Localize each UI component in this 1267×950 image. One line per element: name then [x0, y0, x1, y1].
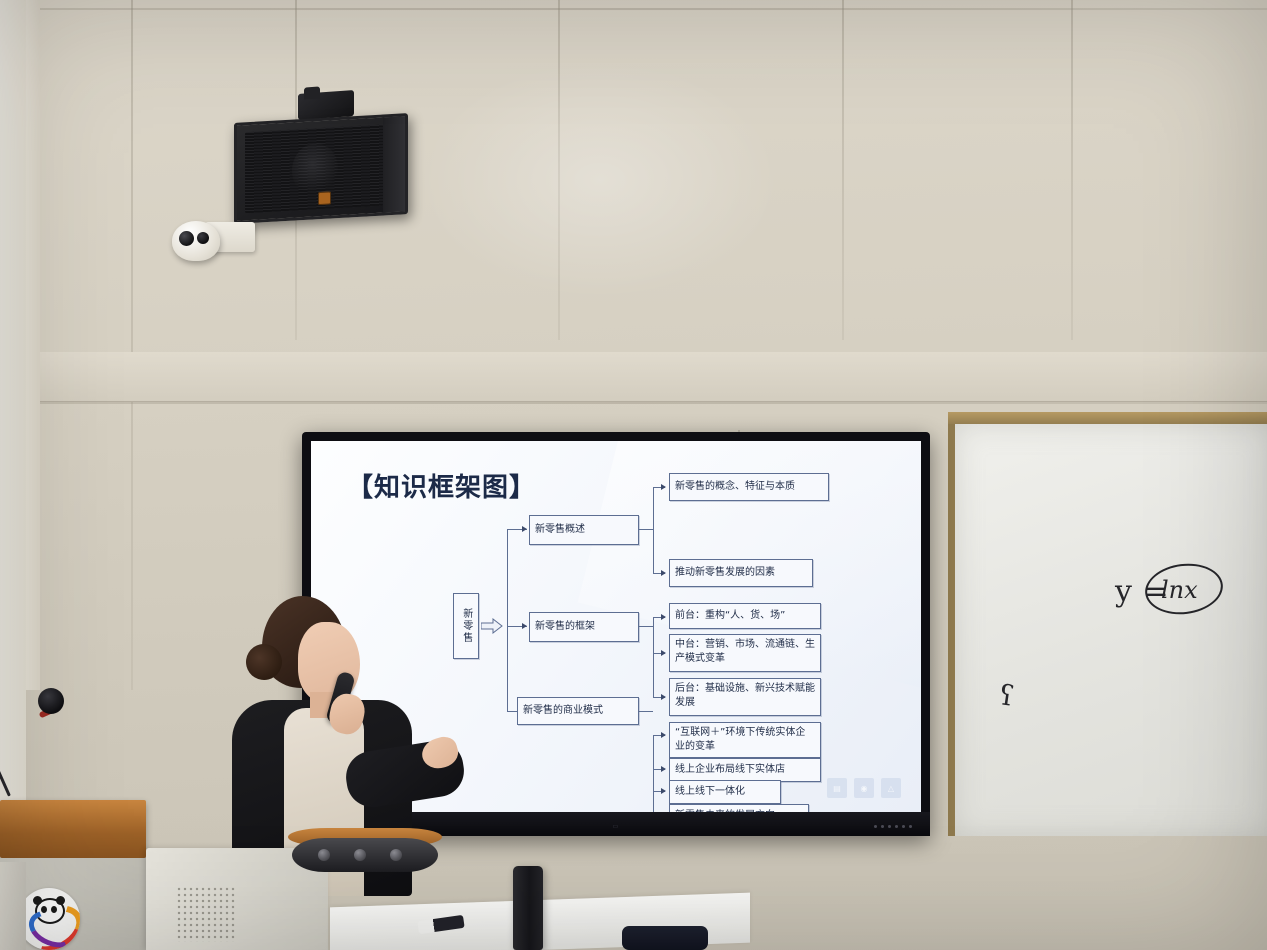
b2-stem [639, 626, 653, 627]
speaker-brand-badge [318, 191, 331, 205]
dark-case[interactable] [622, 926, 708, 950]
podium-wood-top [0, 800, 146, 858]
root-block-arrow-icon [481, 618, 503, 634]
whiteboard[interactable]: y = lnx ʕ [948, 424, 1267, 836]
b1-stem [639, 529, 653, 530]
leaf-node-internet-plus[interactable]: “互联网＋”环境下传统实体企业的变革 [669, 722, 821, 758]
arrow-b2-c1 [661, 614, 666, 620]
leaf-node-back-stage[interactable]: 后台：基础设施、新兴技术赋能发展 [669, 678, 821, 716]
leaf-node-integration[interactable]: 线上线下一体化 [669, 780, 781, 804]
spine-line [507, 529, 508, 711]
share-icon: △ [881, 778, 901, 798]
leaf-node-drivers[interactable]: 推动新零售发展的因素 [669, 559, 813, 587]
b1-riser [653, 487, 654, 573]
console-knob-2[interactable] [354, 849, 366, 861]
leaf-node-concept[interactable]: 新零售的概念、特征与本质 [669, 473, 829, 501]
arrow-b1-c1 [661, 484, 666, 490]
arrow-to-branch-1 [522, 526, 527, 532]
whiteboard-circled-term: lnx [1161, 576, 1198, 604]
console-knob-3[interactable] [390, 849, 402, 861]
classroom-scene: y = lnx ʕ 【知识框架图】 新零售 [0, 0, 1267, 950]
console-vent-grille [176, 886, 236, 942]
display-brand-label: ▭ [612, 823, 619, 830]
leaf-node-online-offline-stores[interactable]: 线上企业布局线下实体店 [669, 758, 821, 782]
image-icon: ▤ [827, 778, 847, 798]
branch-node-business-model[interactable]: 新零售的商业模式 [517, 697, 639, 725]
arrow-b2-c2 [661, 650, 666, 656]
b2-riser [653, 617, 654, 697]
whiteboard-stray-mark: ʕ [997, 678, 1016, 713]
branch-node-framework[interactable]: 新零售的框架 [529, 612, 639, 642]
arrow-b1-c2 [661, 570, 666, 576]
speaker-grille [245, 125, 383, 214]
console-control-surface[interactable] [292, 838, 438, 872]
leaf-node-middle-stage[interactable]: 中台：营销、市场、流通链、生产模式变革 [669, 634, 821, 672]
arrow-b3-c3 [661, 788, 666, 794]
search-icon: ◉ [854, 778, 874, 798]
podium-microphone-head [38, 688, 64, 714]
arrow-to-branch-2 [522, 623, 527, 629]
console-knob-1[interactable] [318, 849, 330, 861]
wall-left-column-inner [26, 0, 40, 690]
b3-riser [653, 735, 654, 812]
arrow-b2-c3 [661, 694, 666, 700]
camera-ir-sensor-icon [197, 232, 209, 244]
speaker-cone [292, 142, 338, 197]
camera-lens-icon [179, 231, 194, 246]
speaker-mount-bracket [298, 90, 354, 120]
slide-watermark-icons: ▤ ◉ △ [827, 778, 901, 798]
speaker-side-panel [383, 116, 405, 212]
b3-stem [639, 711, 653, 712]
arrow-b3-c2 [661, 766, 666, 772]
display-control-buttons[interactable] [874, 825, 912, 828]
wall-speaker [234, 113, 408, 224]
cylinder-speaker[interactable] [513, 866, 543, 950]
branch-node-overview[interactable]: 新零售概述 [529, 515, 639, 545]
panda-institution-logo [18, 888, 80, 950]
leaf-node-future-direction[interactable]: 新零售未来的发展方向 [669, 804, 809, 812]
leaf-node-front-stage[interactable]: 前台：重构“人、货、场” [669, 603, 821, 629]
arrow-b3-c1 [661, 732, 666, 738]
desk-left-bracket [0, 862, 26, 950]
